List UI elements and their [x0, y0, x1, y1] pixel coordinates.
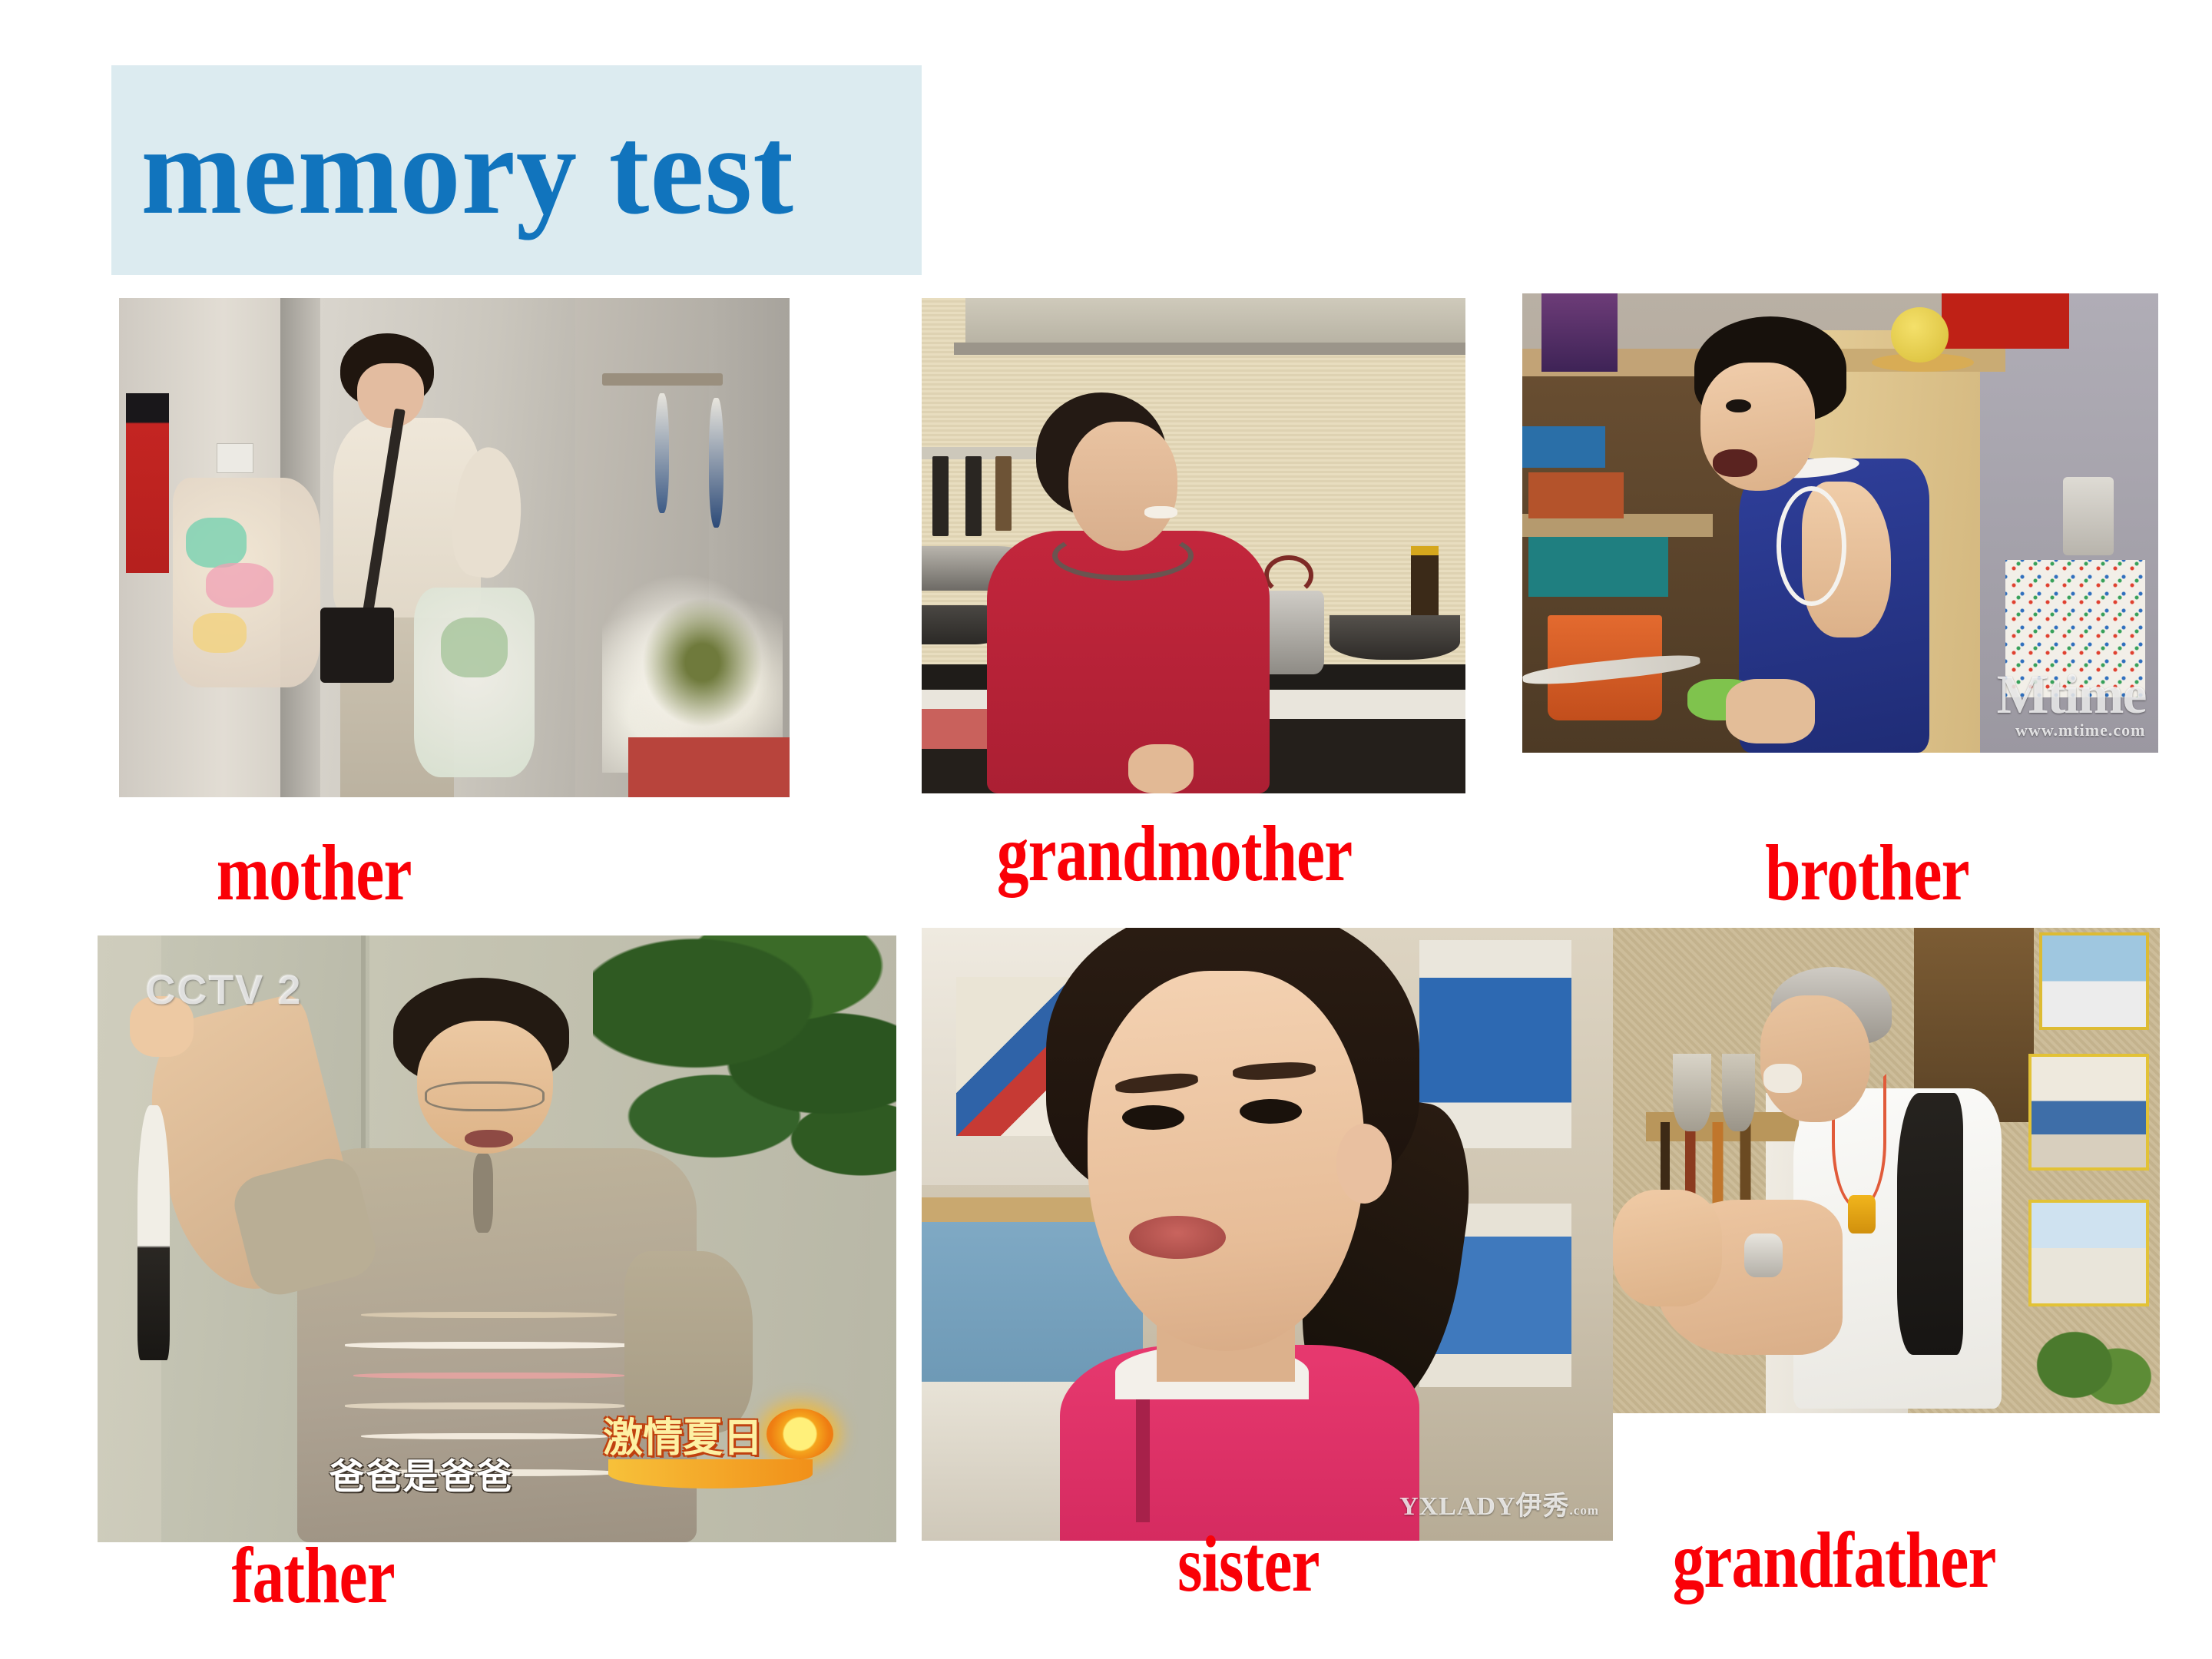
photo-sister-content — [922, 928, 1613, 1541]
photo-brother-content — [1522, 293, 2158, 753]
photo-father[interactable]: CCTV 2 爸爸是爸爸 激情夏日 — [98, 935, 896, 1542]
sun-icon — [767, 1409, 833, 1459]
photo-grandfather-content — [1613, 928, 2160, 1413]
video-subtitle: 爸爸是爸爸 — [329, 1449, 514, 1499]
cctv-channel-logo: CCTV 2 — [145, 966, 302, 1014]
photo-mother-content — [119, 298, 790, 797]
photo-mother[interactable] — [119, 298, 790, 797]
label-grandmother: grandmother — [997, 814, 1353, 894]
label-mother: mother — [217, 833, 412, 913]
photo-sister[interactable]: YXLADY伊秀.com — [922, 928, 1613, 1541]
label-brother: brother — [1765, 833, 1969, 913]
photo-grandfather[interactable] — [1613, 928, 2160, 1413]
swoosh-shape — [608, 1459, 813, 1488]
photo-grandmother[interactable] — [922, 298, 1465, 793]
label-sister: sister — [1177, 1525, 1320, 1604]
slide-canvas: memory test — [0, 0, 2212, 1659]
photo-grandmother-content — [922, 298, 1465, 793]
label-grandfather: grandfather — [1673, 1521, 1996, 1601]
label-father: father — [232, 1536, 395, 1616]
photo-brother[interactable]: Mtime www.mtime.com — [1522, 293, 2158, 753]
tv-show-logo: 激情夏日 — [593, 1385, 849, 1518]
tv-show-logo-text: 激情夏日 — [603, 1406, 763, 1463]
page-title: memory test — [111, 107, 794, 233]
title-banner: memory test — [111, 65, 922, 275]
